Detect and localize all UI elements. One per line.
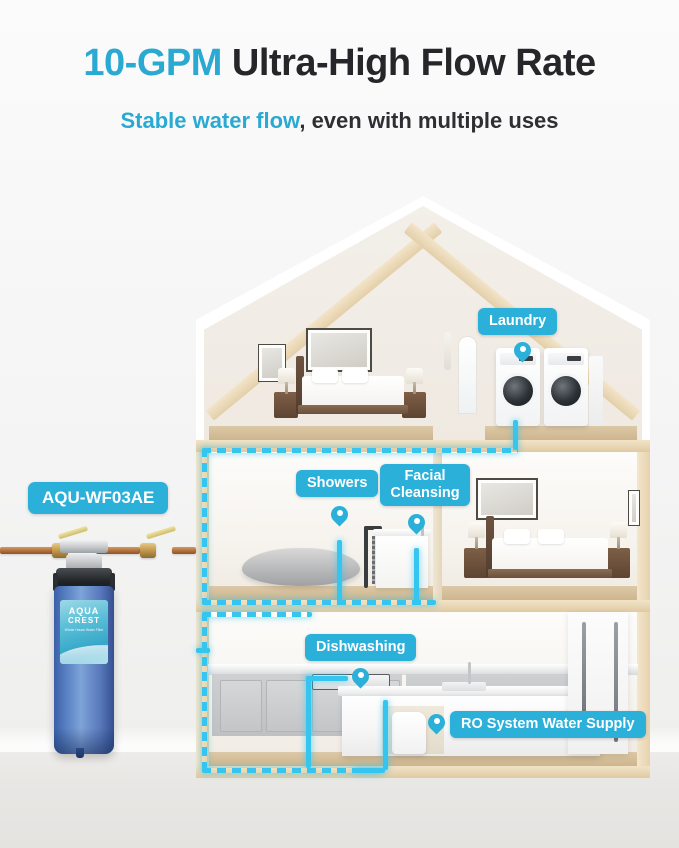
bedroom-wall-art-narrow xyxy=(628,490,640,526)
valve-handle-left[interactable] xyxy=(58,526,88,540)
bathroom-floor xyxy=(209,586,433,600)
ball-valve-right xyxy=(140,543,156,558)
pipe-mid-top xyxy=(202,448,518,453)
washing-machine xyxy=(496,348,540,426)
map-pin-icon-ro xyxy=(428,714,445,731)
pipe-ro-riser xyxy=(383,700,388,770)
bedroom-lamp-right xyxy=(610,522,627,549)
filter-drain-valve xyxy=(76,748,84,758)
laundry-room-floor xyxy=(485,426,637,440)
callout-laundry[interactable]: Laundry xyxy=(478,308,557,335)
laundry-cabinet xyxy=(589,356,603,426)
callout-facial-cleansing[interactable]: Facial Cleansing xyxy=(380,464,470,506)
filter-label: AQUA CREST Whole House Water Filter xyxy=(60,600,108,664)
pipe-laundry-riser xyxy=(513,420,518,450)
bedroom-nightstand-left xyxy=(464,548,488,578)
bedroom-wall-art xyxy=(476,478,538,520)
pipe-facial-drop xyxy=(414,548,419,602)
pipe-mid-bottom xyxy=(202,600,436,605)
pipe-ground-top xyxy=(202,612,312,617)
bedroom-floor xyxy=(442,586,637,600)
callout-ro-system[interactable]: RO System Water Supply xyxy=(450,711,646,738)
nightstand-left xyxy=(274,392,298,418)
brand-line-1: AQUA xyxy=(69,606,100,616)
page-subtitle: Stable water flow, even with multiple us… xyxy=(0,108,679,134)
tub-faucet xyxy=(364,526,368,588)
infographic-canvas: 10-GPM Ultra-High Flow Rate Stable water… xyxy=(0,0,679,848)
product-model-badge[interactable]: AQU-WF03AE xyxy=(28,482,168,514)
bedroom-lamp-left xyxy=(468,522,485,549)
pipe-shower-drop xyxy=(337,540,342,602)
second-floor-bed xyxy=(486,516,608,578)
copper-pipe-right xyxy=(172,547,196,554)
callout-showers[interactable]: Showers xyxy=(296,470,378,497)
map-pin-icon-laundry xyxy=(514,342,531,359)
copper-pipe-left xyxy=(0,547,56,554)
valve-handle-right[interactable] xyxy=(146,526,176,540)
shower-hose xyxy=(372,536,375,584)
map-pin-icon-facial xyxy=(408,514,425,531)
table-lamp-left xyxy=(278,368,295,394)
bathtub xyxy=(242,548,360,586)
subtitle-highlight: Stable water flow xyxy=(120,108,299,133)
brand-line-2: CREST xyxy=(68,616,100,625)
attic-window xyxy=(458,336,477,414)
kitchen-sink xyxy=(442,682,486,691)
subtitle-rest: , even with multiple uses xyxy=(299,108,558,133)
headline-highlight: 10-GPM xyxy=(83,42,221,84)
pipe-dishwasher-riser xyxy=(306,676,311,768)
attic-bed xyxy=(296,356,404,414)
clothes-dryer xyxy=(544,348,588,426)
ro-system-unit xyxy=(392,712,426,754)
headline-rest: Ultra-High Flow Rate xyxy=(222,42,596,84)
whole-house-water-filter: AQUA CREST Whole House Water Filter xyxy=(52,542,116,762)
pipe-ro-feed xyxy=(353,768,385,773)
bathroom-vanity xyxy=(376,534,428,588)
pipe-mid-left-vertical xyxy=(202,448,207,604)
attic-curtain xyxy=(444,332,451,370)
label-fineprint: Whole House Water Filter xyxy=(65,628,104,633)
map-pin-icon-showers xyxy=(331,506,348,523)
map-pin-icon-dishwashing xyxy=(352,668,369,685)
pipe-dishwasher-feed xyxy=(306,676,348,681)
table-lamp-right xyxy=(406,368,423,394)
callout-dishwashing[interactable]: Dishwashing xyxy=(305,634,416,661)
pipe-ground-left-vertical xyxy=(202,612,207,772)
page-title: 10-GPM Ultra-High Flow Rate xyxy=(0,42,679,85)
kitchen-faucet xyxy=(468,662,471,684)
attic-bedroom-floor xyxy=(209,426,433,440)
